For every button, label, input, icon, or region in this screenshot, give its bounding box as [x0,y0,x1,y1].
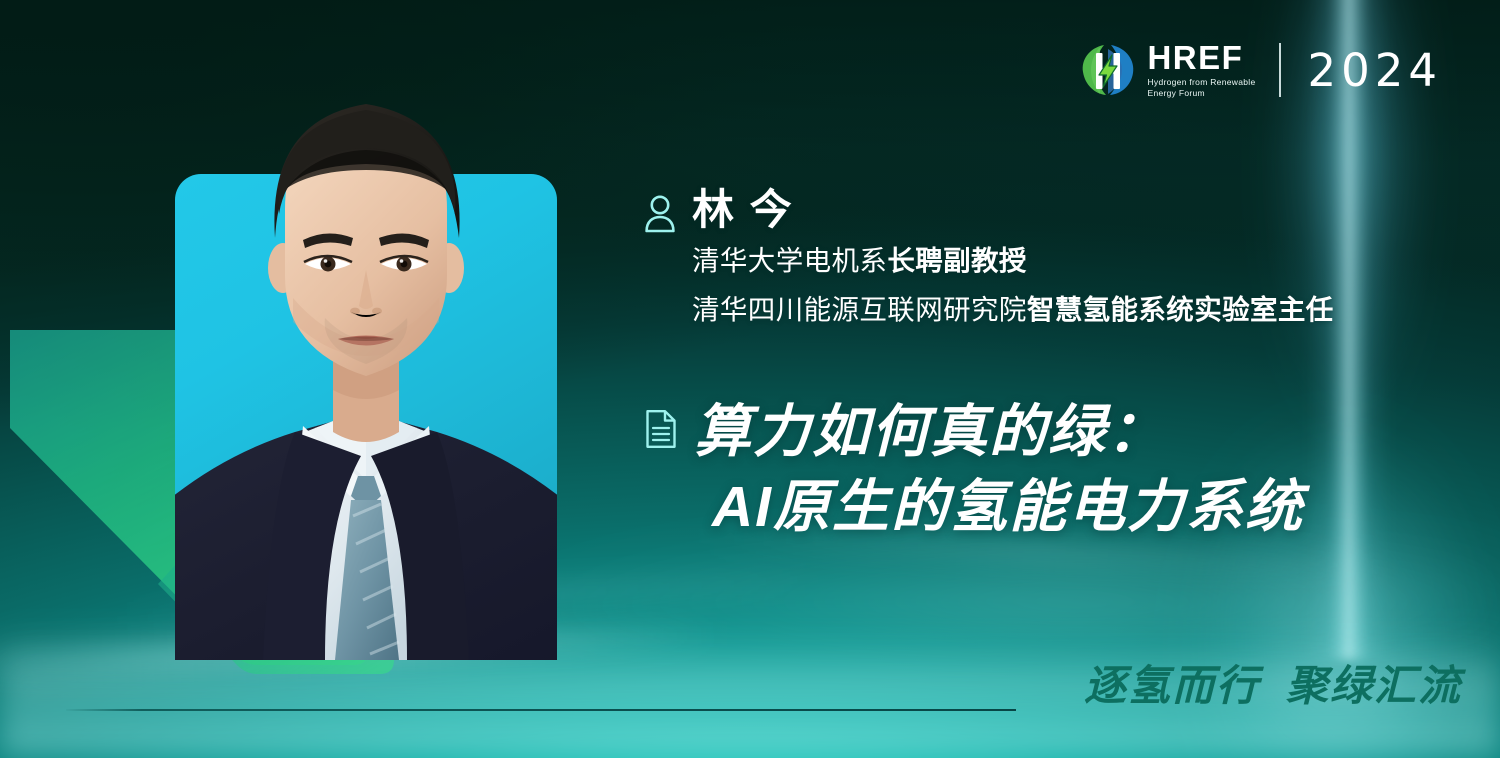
event-year: 2024 [1307,48,1442,93]
talk-title-line-2: AI原生的氢能电力系统 [694,470,1304,545]
logo-divider [1279,43,1281,97]
href-hydrogen-logo-icon [1077,39,1139,101]
talk-title-line-1: 算力如何真的绿： [694,395,1304,470]
logo-subtitle: Hydrogen from Renewable Energy Forum [1147,77,1259,100]
speaker-portrait-block [0,0,640,758]
affiliation-1-plain: 清华大学电机系 [692,245,887,276]
speaker-name: 林 今 [692,186,1334,233]
footer-divider-line [66,709,1016,711]
speaker-affiliation-1: 清华大学电机系长聘副教授 [692,240,1334,282]
document-icon [644,409,678,449]
speaker-affiliation-2: 清华四川能源互联网研究院智慧氢能系统实验室主任 [692,289,1334,331]
talk-title-block: 算力如何真的绿： AI原生的氢能电力系统 [644,395,1484,545]
logo-wordmark: HREF Hydrogen from Renewable Energy Foru… [1147,41,1259,100]
presentation-slide: HREF Hydrogen from Renewable Energy Foru… [0,0,1500,758]
speaker-photo [175,60,557,660]
affiliation-2-plain: 清华四川能源互联网研究院 [692,294,1027,325]
speaker-photo-illustration [175,60,557,660]
event-logo: HREF Hydrogen from Renewable Energy Foru… [1077,34,1442,106]
person-icon [644,194,676,234]
slogan-part-2: 聚绿汇流 [1286,662,1462,709]
slogan-part-1: 逐氢而行 [1084,662,1260,709]
event-slogan: 逐氢而行聚绿汇流 [1084,665,1462,707]
speaker-info: 林 今 清华大学电机系长聘副教授 清华四川能源互联网研究院智慧氢能系统实验室主任 [644,186,1474,331]
affiliation-1-title: 长聘副教授 [887,245,1027,276]
affiliation-2-title: 智慧氢能系统实验室主任 [1027,294,1334,325]
logo-name: HREF [1147,41,1259,74]
